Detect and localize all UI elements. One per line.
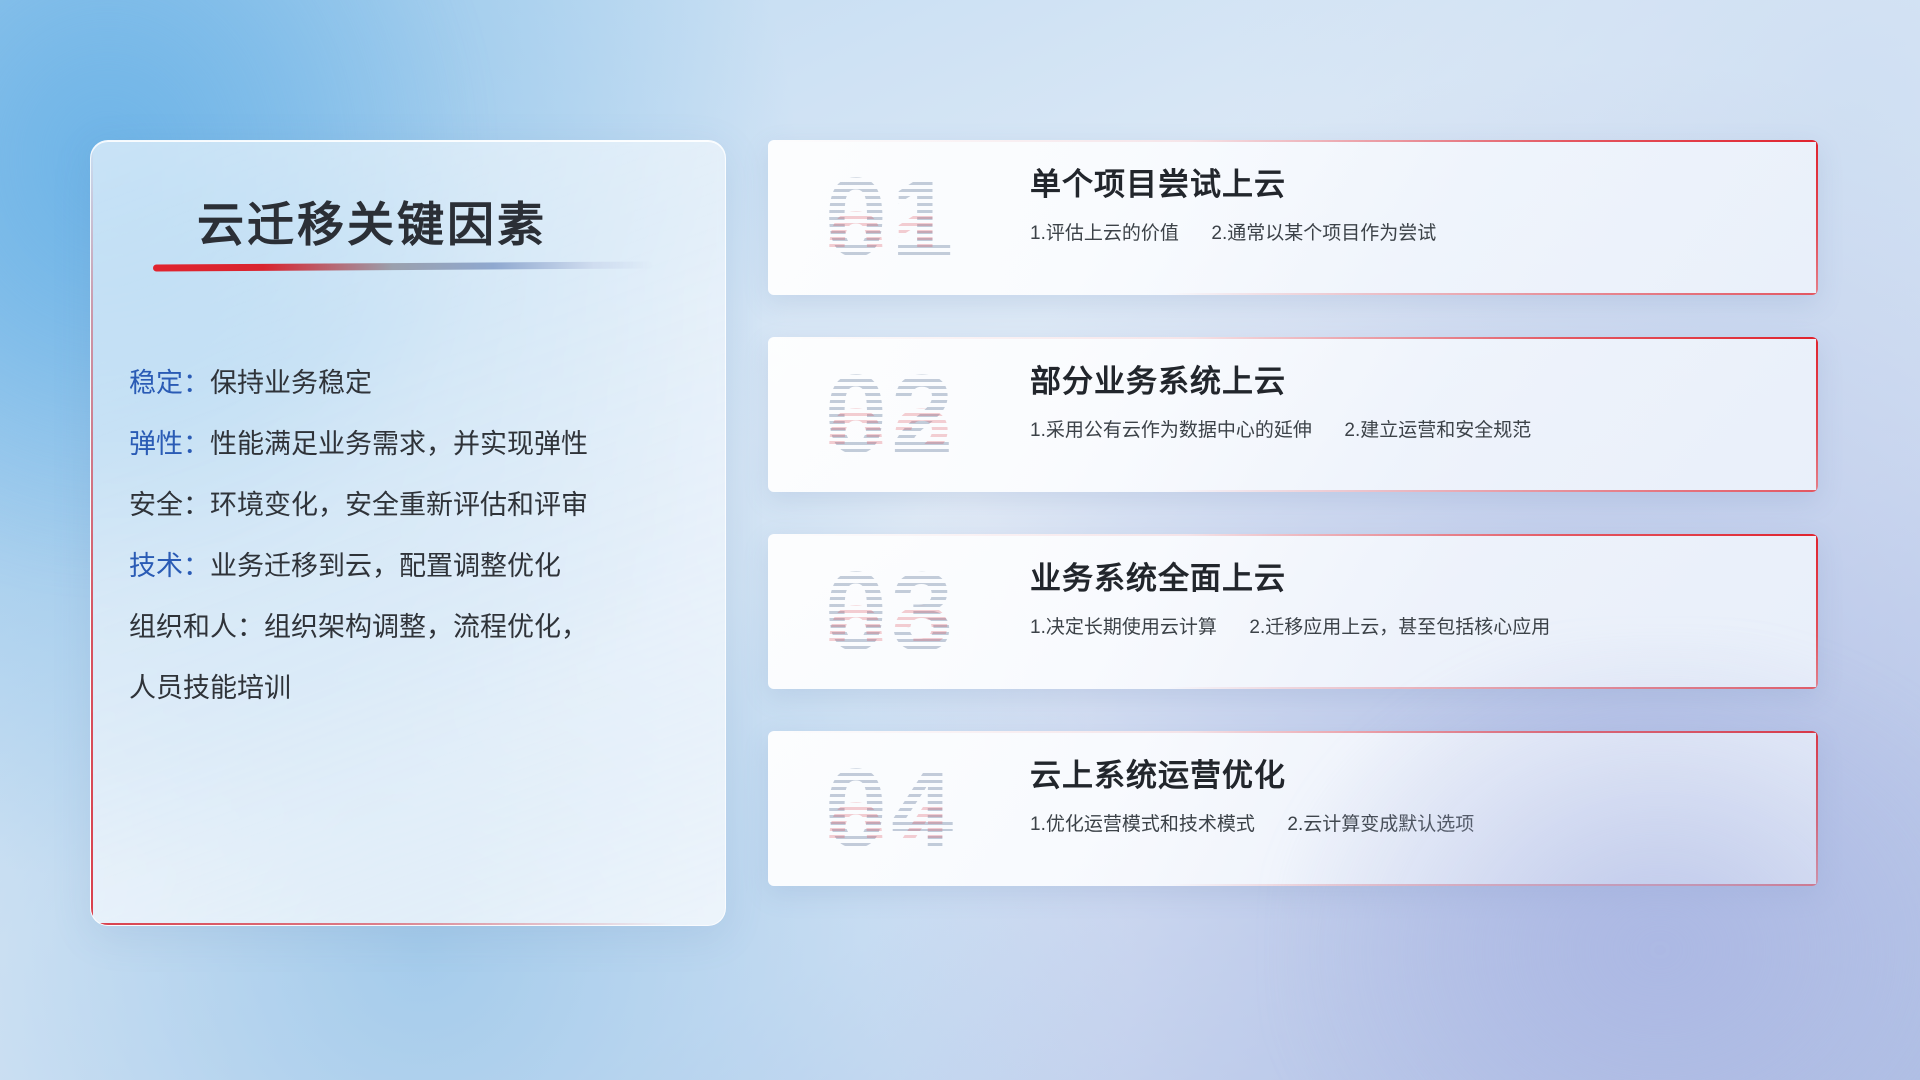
card-top-accent-line [768,140,1818,142]
card-accent-bar [997,168,1000,268]
panel-left-accent-line [91,141,93,925]
factor-label: 组织和人： [129,612,264,642]
key-factor-list: 稳定：保持业务稳定 弹性：性能满足业务需求，并实现弹性 安全：环境变化，安全重新… [129,353,701,719]
card-desc-item-2: 2.云计算变成默认选项 [1287,814,1474,835]
key-factors-panel: 云迁移关键因素 稳定：保持业务稳定 弹性：性能满足业务需求，并实现弹性 安全：环… [90,140,726,926]
factor-label: 弹性： [129,429,210,459]
card-top-accent-line [768,534,1818,536]
slide-canvas: 云迁移关键因素 稳定：保持业务稳定 弹性：性能满足业务需求，并实现弹性 安全：环… [0,0,1920,1080]
card-title: 部分业务系统上云 [1030,359,1788,405]
card-title: 业务系统全面上云 [1030,556,1788,602]
factor-text: 人员技能培训 [129,673,291,703]
card-body: 云上系统运营优化 1.优化运营模式和技术模式 2.云计算变成默认选项 [1030,753,1788,839]
list-item: 技术：业务迁移到云，配置调整优化 [129,536,701,597]
card-bottom-accent-line [1167,490,1818,492]
title-underline-rule [153,261,653,271]
card-top-accent-line [768,337,1818,339]
stage-card-04[interactable]: 04 04 云上系统运营优化 1.优化运营模式和技术模式 2.云计算变成默认选项 [768,731,1818,886]
card-desc-item-1: 1.决定长期使用云计算 [1030,617,1217,638]
card-desc-item-2: 2.迁移应用上云，甚至包括核心应用 [1249,617,1550,638]
card-title: 单个项目尝试上云 [1030,162,1788,208]
card-body: 部分业务系统上云 1.采用公有云作为数据中心的延伸 2.建立运营和安全规范 [1030,359,1788,445]
card-right-accent-line [1816,731,1818,886]
stage-card-02[interactable]: 02 02 部分业务系统上云 1.采用公有云作为数据中心的延伸 2.建立运营和安… [768,337,1818,492]
card-title: 云上系统运营优化 [1030,753,1788,799]
list-item-continuation: 人员技能培训 [129,658,701,719]
factor-text: 环境变化，安全重新评估和评审 [210,490,588,520]
card-description: 1.决定长期使用云计算 2.迁移应用上云，甚至包括核心应用 [1030,614,1788,642]
card-desc-item-2: 2.通常以某个项目作为尝试 [1211,223,1436,244]
migration-stage-card-list: 01 01 单个项目尝试上云 1.评估上云的价值 2.通常以某个项目作为尝试 0… [768,140,1818,928]
card-description: 1.优化运营模式和技术模式 2.云计算变成默认选项 [1030,811,1788,839]
factor-label: 技术： [129,551,210,581]
list-item: 组织和人：组织架构调整，流程优化， [129,597,701,658]
card-top-accent-line [768,731,1818,733]
card-description: 1.采用公有云作为数据中心的延伸 2.建立运营和安全规范 [1030,417,1788,445]
stage-card-01[interactable]: 01 01 单个项目尝试上云 1.评估上云的价值 2.通常以某个项目作为尝试 [768,140,1818,295]
card-bottom-accent-line [1167,293,1818,295]
factor-label: 安全： [129,490,210,520]
card-bottom-accent-line [1167,687,1818,689]
page-title: 云迁移关键因素 [197,186,547,255]
card-desc-item-1: 1.评估上云的价值 [1030,223,1179,244]
card-right-accent-line [1816,337,1818,492]
card-desc-item-2: 2.建立运营和安全规范 [1344,420,1531,441]
list-item: 稳定：保持业务稳定 [129,353,701,414]
card-body: 单个项目尝试上云 1.评估上云的价值 2.通常以某个项目作为尝试 [1030,162,1788,248]
factor-text: 组织架构调整，流程优化， [264,612,588,642]
factor-text: 业务迁移到云，配置调整优化 [210,551,561,581]
card-desc-item-1: 1.采用公有云作为数据中心的延伸 [1030,420,1312,441]
card-desc-item-1: 1.优化运营模式和技术模式 [1030,814,1255,835]
list-item: 安全：环境变化，安全重新评估和评审 [129,475,701,536]
card-bottom-accent-line [1167,884,1818,886]
factor-label: 稳定： [129,368,210,398]
card-accent-bar [997,759,1000,859]
factor-text: 性能满足业务需求，并实现弹性 [210,429,588,459]
card-right-accent-line [1816,140,1818,295]
card-description: 1.评估上云的价值 2.通常以某个项目作为尝试 [1030,220,1788,248]
stage-card-03[interactable]: 03 03 业务系统全面上云 1.决定长期使用云计算 2.迁移应用上云，甚至包括… [768,534,1818,689]
factor-text: 保持业务稳定 [210,368,372,398]
list-item: 弹性：性能满足业务需求，并实现弹性 [129,414,701,475]
panel-bottom-accent-line [91,923,725,925]
card-accent-bar [997,365,1000,465]
card-body: 业务系统全面上云 1.决定长期使用云计算 2.迁移应用上云，甚至包括核心应用 [1030,556,1788,642]
card-accent-bar [997,562,1000,662]
card-right-accent-line [1816,534,1818,689]
